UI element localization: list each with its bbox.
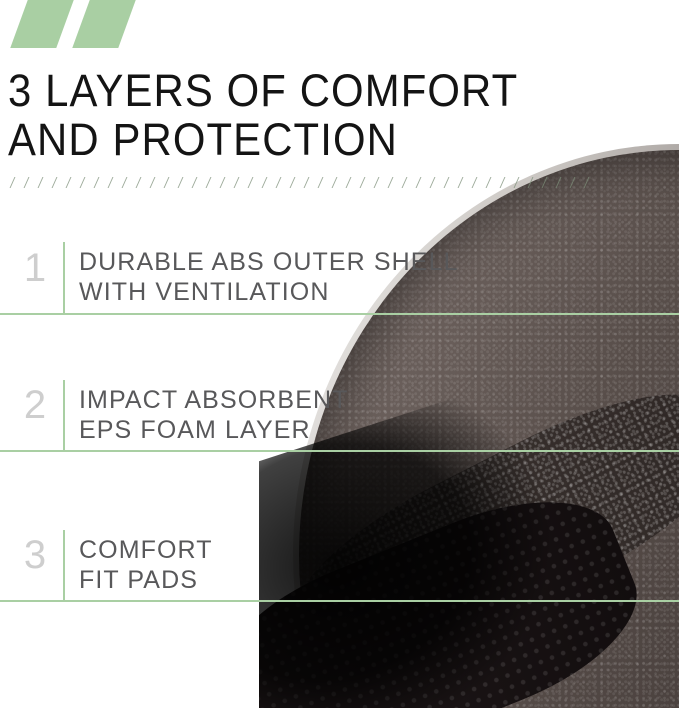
layer-number-3: 3 (14, 535, 56, 575)
infographic-root: COMPLIES WITH ASTM U.S. CPSC SAFETY 3 LA… (0, 0, 679, 708)
layer-underline-3 (0, 600, 679, 602)
layer-label-3: COMFORT FIT PADS (79, 535, 213, 595)
layer-item-3: 3 COMFORT FIT PADS (0, 0, 679, 610)
layer-vertical-rule-3 (63, 530, 65, 602)
